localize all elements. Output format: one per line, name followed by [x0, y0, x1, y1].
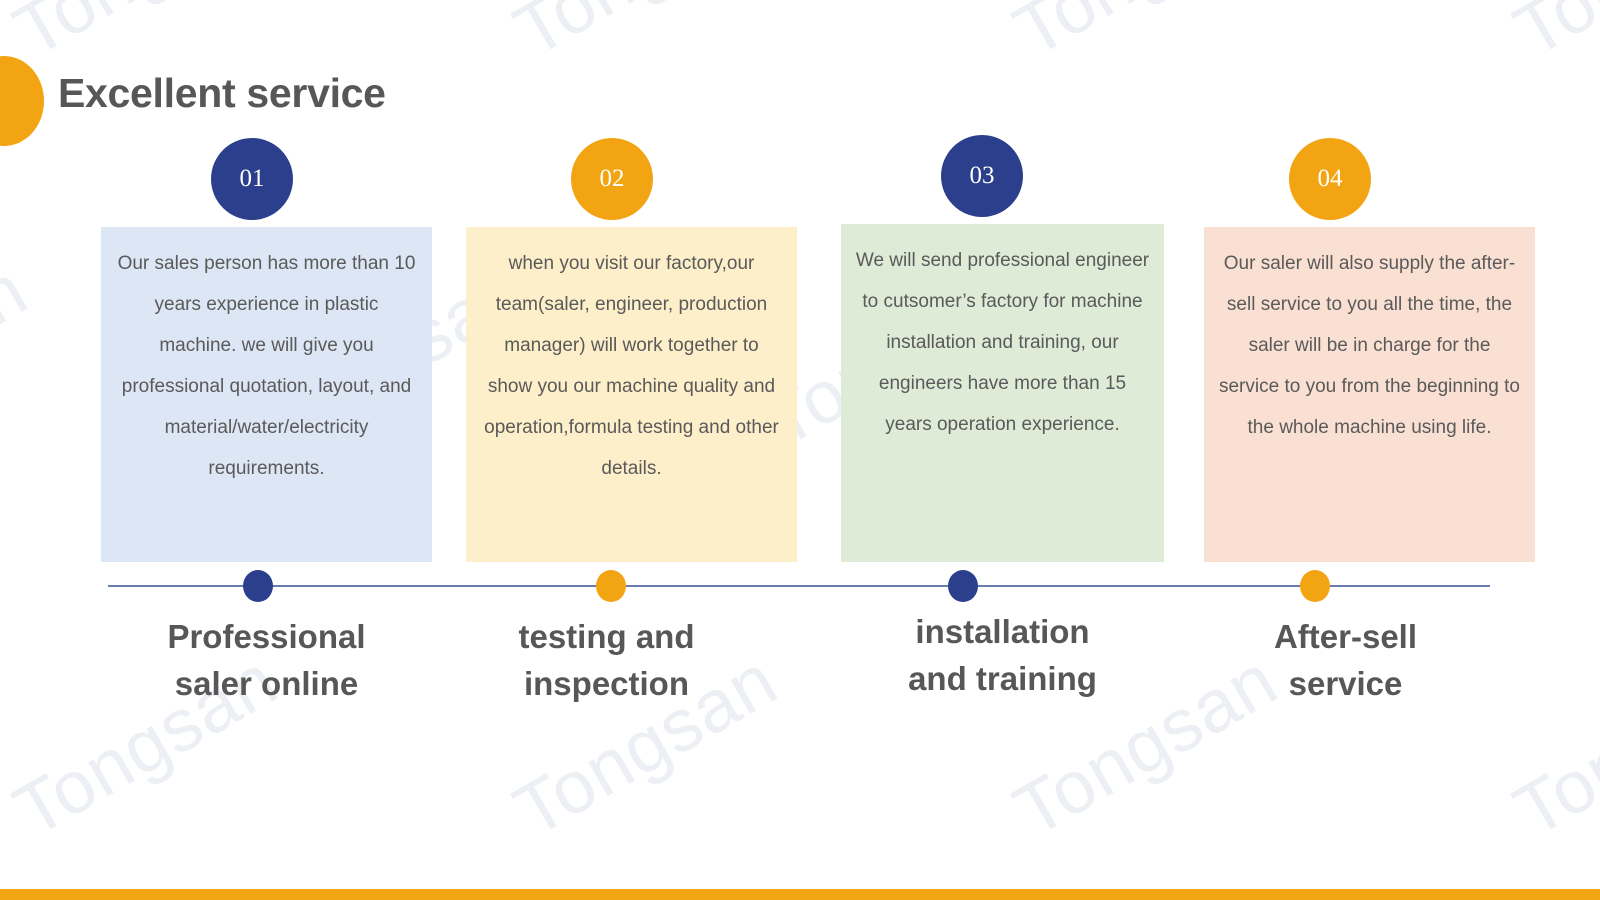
step-card-3: We will send professional engineer to cu… [841, 224, 1164, 562]
step-label-2: testing and inspection [441, 613, 772, 707]
timeline-dot-1[interactable] [243, 570, 273, 602]
step-label-2-line1: testing and [441, 613, 772, 660]
timeline-dot-4[interactable] [1300, 570, 1330, 602]
step-card-2: when you visit our factory,our team(sale… [466, 227, 797, 562]
step-card-text-3: We will send professional engineer to cu… [856, 250, 1149, 435]
watermark-text: Tongsan [500, 0, 791, 74]
timeline-dot-2[interactable] [596, 570, 626, 602]
step-badge-number-4: 04 [1318, 165, 1343, 193]
step-badge-number-1: 01 [240, 165, 265, 193]
step-label-4: After-sell service [1180, 613, 1511, 707]
step-label-4-line2: service [1180, 660, 1511, 707]
step-label-2-line2: inspection [441, 660, 772, 707]
step-label-1: Professional saler online [101, 613, 432, 707]
timeline-dot-3[interactable] [948, 570, 978, 602]
step-label-1-line2: saler online [101, 660, 432, 707]
watermark-text: Tongsan [1500, 637, 1600, 854]
step-label-3-line2: and training [841, 655, 1164, 702]
step-badge-number-2: 02 [600, 165, 625, 193]
timeline-rule [108, 585, 1490, 587]
step-label-3-line1: installation [841, 608, 1164, 655]
step-label-1-line1: Professional [101, 613, 432, 660]
bottom-accent-bar [0, 889, 1600, 900]
watermark-text: Tongsan [0, 247, 41, 464]
step-card-text-4: Our saler will also supply the after-sel… [1219, 253, 1520, 438]
step-label-3: installation and training [841, 608, 1164, 702]
watermark-text: Tongsan [1500, 0, 1600, 74]
step-badge-4[interactable]: 04 [1289, 138, 1371, 220]
watermark-text: Tongsan [1000, 0, 1291, 74]
slide-root: TongsanTongsanTongsanTongsanTongsanTongs… [0, 0, 1600, 900]
step-badge-number-3: 03 [970, 162, 995, 190]
decorative-circle-top-left [0, 56, 44, 146]
step-badge-3[interactable]: 03 [941, 135, 1023, 217]
page-title: Excellent service [58, 70, 386, 117]
step-badge-1[interactable]: 01 [211, 138, 293, 220]
step-card-1: Our sales person has more than 10 years … [101, 227, 432, 562]
step-card-text-2: when you visit our factory,our team(sale… [484, 253, 779, 479]
watermark-text: Tongsan [0, 0, 291, 74]
step-card-4: Our saler will also supply the after-sel… [1204, 227, 1535, 562]
step-label-4-line1: After-sell [1180, 613, 1511, 660]
step-card-text-1: Our sales person has more than 10 years … [118, 253, 416, 479]
step-badge-2[interactable]: 02 [571, 138, 653, 220]
